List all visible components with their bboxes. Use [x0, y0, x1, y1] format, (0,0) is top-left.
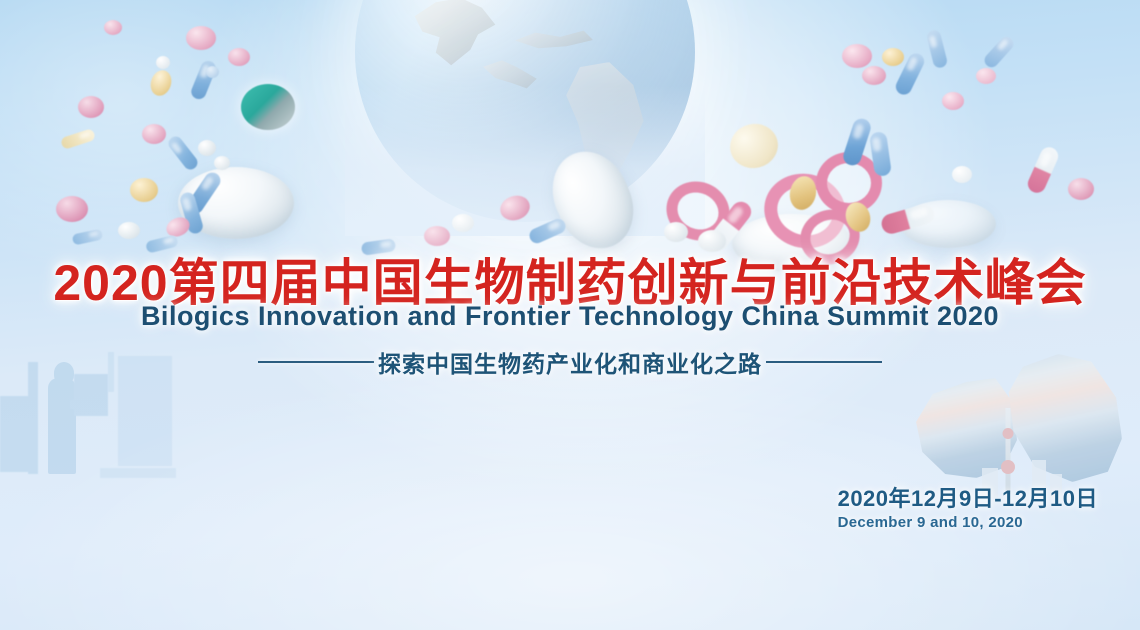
- pill-pink-r-3: [942, 92, 964, 110]
- capsule-blue-r-5: [982, 34, 1016, 70]
- pill-pink-3: [228, 48, 250, 66]
- tagline-text: 探索中国生物药产业化和商业化之路: [378, 345, 762, 379]
- pill-pink-r-4: [976, 68, 996, 84]
- pill-white-2: [214, 156, 230, 170]
- lab-machine-left: [0, 396, 34, 472]
- pill-pink-1: [78, 96, 104, 118]
- pill-pink-2: [186, 26, 216, 50]
- pill-pink-4: [142, 124, 166, 144]
- pill-white-bl-1: [118, 222, 140, 239]
- pill-pink-bl-1: [56, 196, 88, 222]
- capsule-yellow-white: [60, 128, 96, 150]
- event-date: 2020年12月9日-12月10日 December 9 and 10, 202…: [838, 481, 1098, 531]
- conference-banner: 2020第四届中国生物制药创新与前沿技术峰会 Bilogics Innovati…: [0, 0, 1140, 630]
- pill-white-bottom-center: [452, 214, 474, 232]
- pill-yellow-1: [147, 68, 174, 99]
- event-date-chinese: 2020年12月9日-12月10日: [838, 481, 1098, 513]
- pill-pink-mid-left: [104, 20, 122, 35]
- pill-pink-r-1: [842, 44, 872, 68]
- event-date-english: December 9 and 10, 2020: [838, 514, 1098, 531]
- tower-sphere-upper: [1003, 428, 1014, 439]
- capsule-blue-r-2: [926, 29, 949, 69]
- pill-cream-r-1: [725, 119, 782, 173]
- pill-white-3: [156, 56, 170, 69]
- pill-blue-dot-1: [206, 66, 219, 78]
- lab-worker-body: [48, 378, 76, 474]
- pill-pink-r-2: [862, 66, 886, 85]
- tagline-rule-right: [766, 361, 882, 363]
- pill-teal-large: [241, 84, 295, 130]
- pill-yellow-r-1: [882, 48, 904, 66]
- globe-illustration: [355, 0, 695, 222]
- tower-sphere-lower: [1001, 460, 1015, 474]
- subtitle-english: Bilogics Innovation and Frontier Technol…: [0, 301, 1140, 332]
- pill-pink-far-1: [1068, 178, 1094, 200]
- lab-base: [100, 468, 176, 478]
- pill-white-1: [198, 140, 216, 156]
- tagline: 探索中国生物药产业化和商业化之路: [0, 345, 1140, 379]
- pill-yellow-2: [130, 178, 158, 202]
- pill-white-r-2: [664, 222, 688, 242]
- pharmaceutical-lab-scene: [0, 352, 250, 552]
- pill-white-far-1: [952, 166, 972, 183]
- capsule-blue-2: [166, 134, 200, 173]
- tagline-rule-left: [258, 361, 374, 363]
- lab-panel: [74, 374, 108, 416]
- capsule-pink-white-3: [1025, 144, 1061, 195]
- capsule-blue-1: [189, 59, 218, 102]
